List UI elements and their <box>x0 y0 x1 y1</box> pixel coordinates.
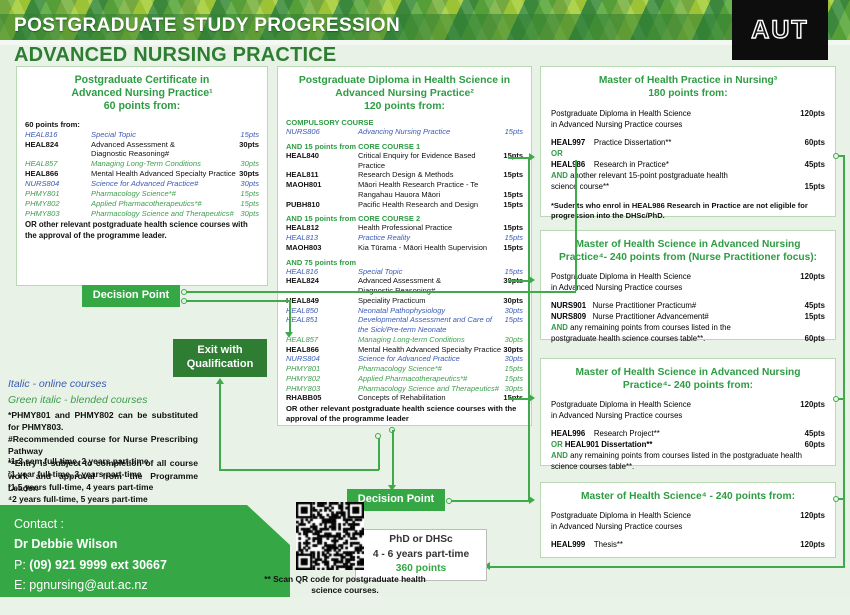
master-line: HEAL986 Research in Practice*45pts <box>551 159 825 170</box>
connector-dot-exit-route <box>375 433 381 439</box>
course-row: the Sick/Pre-term Neonate <box>286 325 523 335</box>
master-line-points: 15pts <box>805 311 825 322</box>
spacer <box>551 532 825 539</box>
course-row: HEAL866Mental Health Advanced Specialty … <box>286 345 523 355</box>
master-line-points: 45pts <box>805 159 825 170</box>
course-name: Diagnostic Reasoning# <box>91 149 259 159</box>
master-line-text: NURS901 Nurse Practitioner Practicum# <box>551 300 805 311</box>
course-points: 15pts <box>240 189 259 199</box>
course-name: Pharmacology Science and Therapeutics# <box>91 209 240 219</box>
course-code: NURS806 <box>286 127 358 137</box>
arrow-down-to-exit <box>285 332 293 338</box>
course-row: HEAL824Advanced Assessment &30pts <box>25 140 259 150</box>
master-line-text: HEAL996 Research Project** <box>551 428 805 439</box>
contact-enrol-url[interactable]: www.aut.ac.nz/apply <box>77 598 199 612</box>
exit-with-qualification[interactable]: Exit with Qualification <box>173 339 267 377</box>
connector-spine-v <box>528 157 530 501</box>
course-code: PHMY801 <box>25 189 91 199</box>
course-points: 30pts <box>505 354 523 364</box>
course-points: 30pts <box>240 209 259 219</box>
exit-label-1: Exit with <box>187 344 254 358</box>
connector-dp1-exit-v <box>289 300 291 334</box>
master-line-text: HEAL999 Thesis** <box>551 539 800 550</box>
master-line-text: postgraduate health science courses tabl… <box>551 333 805 344</box>
master-line: postgraduate health science courses tabl… <box>551 333 825 344</box>
master-line: in Advanced Nursing Practice courses <box>551 410 825 421</box>
connector-pgdip-to-dp2 <box>392 430 394 487</box>
course-row: MAOH801Māori Health Research Practice - … <box>286 180 523 190</box>
course-code: PHMY802 <box>25 199 91 209</box>
course-points: 15pts <box>503 151 523 161</box>
course-points: 15pts <box>503 170 523 180</box>
course-row: NURS804Science for Advanced Practice#30p… <box>25 179 259 189</box>
course-code: HEAL840 <box>286 151 358 161</box>
course-name: Rangahau Hauora Māori <box>358 190 503 200</box>
master-line: OR <box>551 148 825 159</box>
course-code: HEAL851 <box>286 315 358 325</box>
master-line-text: AND another relevant 15-point postgradua… <box>551 170 825 181</box>
connector-outer-spine <box>843 155 845 568</box>
course-row: PUBH810Pacific Health Research and Desig… <box>286 200 523 210</box>
master-line-text: in Advanced Nursing Practice courses <box>551 119 825 130</box>
course-row: NURS804Science for Advanced Practice30pt… <box>286 354 523 364</box>
arrow-right-master-0 <box>529 153 535 161</box>
course-points: 15pts <box>505 374 523 384</box>
course-row: PHMY801Pharmacology Science*#15pts <box>286 364 523 374</box>
master-line: NURS809 Nurse Practitioner Advancement#1… <box>551 311 825 322</box>
course-name: Māori Health Research Practice - Te <box>358 180 523 190</box>
contact-email[interactable]: pgnursing@aut.ac.nz <box>29 578 147 592</box>
pgdip-section-heading: AND 75 points from <box>286 258 523 267</box>
course-name: Practice Reality <box>358 233 505 243</box>
page-subtitle: ADVANCED NURSING PRACTICE <box>14 44 336 67</box>
course-code: HEAL816 <box>286 267 358 277</box>
course-name: Advanced Assessment & <box>91 140 239 150</box>
master-line: Postgraduate Diploma in Health Science12… <box>551 108 825 119</box>
course-code: NURS804 <box>286 354 358 364</box>
course-name: Applied Pharmacotherapeutics*# <box>358 374 505 384</box>
course-name: Science for Advanced Practice# <box>91 179 240 189</box>
master-0-title: Master of Health Practice in Nursing³ 18… <box>551 75 825 101</box>
master-line: NURS901 Nurse Practitioner Practicum#45p… <box>551 300 825 311</box>
master-line-points: 60pts <box>805 137 825 148</box>
course-row: HEAL857Managing Long-term Conditions30pt… <box>286 335 523 345</box>
course-row: HEAL857Managing Long-Term Conditions30pt… <box>25 159 259 169</box>
master-line: Postgraduate Diploma in Health Science12… <box>551 271 825 282</box>
spacer <box>551 293 825 300</box>
course-code: HEAL816 <box>25 130 91 140</box>
master-line: science course**15pts <box>551 181 825 192</box>
course-code: HEAL866 <box>286 345 358 355</box>
phd-line-2: 4 - 6 years part-time <box>356 548 486 563</box>
course-row: HEAL866Mental Health Advanced Specialty … <box>25 169 259 179</box>
connector-spine-m3 <box>508 500 530 502</box>
course-code: PUBH810 <box>286 200 358 210</box>
course-name: Kia Tūrama - Māori Health Supervision <box>358 243 503 253</box>
course-name: Research Design & Methods <box>358 170 503 180</box>
course-row: HEAL849Speciality Practicum30pts <box>286 296 523 306</box>
contact-phone[interactable]: (09) 921 9999 ext 30667 <box>29 558 167 572</box>
duration-3: ³1.5 years full-time, 4 years part-time <box>8 481 198 494</box>
contact-email-prefix: E: <box>14 578 29 592</box>
connector-spine-m1 <box>508 280 530 282</box>
course-row: PHMY803Pharmacology Science and Therapeu… <box>25 209 259 219</box>
course-code: HEAL824 <box>25 140 91 150</box>
arrow-right-master-3 <box>529 496 535 504</box>
master-line-text: in Advanced Nursing Practice courses <box>551 282 825 293</box>
connector-spine-m2 <box>508 398 530 400</box>
course-code: NURS804 <box>25 179 91 189</box>
qr-code[interactable] <box>296 502 364 575</box>
course-row: MAOH803Kia Tūrama - Māori Health Supervi… <box>286 243 523 253</box>
pgdip-section-heading: AND 15 points from CORE COURSE 1 <box>286 142 523 151</box>
course-name: Health Professional Practice <box>358 223 503 233</box>
card-master-health-science: Master of Health Science⁴ - 240 points f… <box>540 482 836 558</box>
qr-caption-line-2: science courses. <box>255 585 435 596</box>
master-line: AND any remaining points from courses li… <box>551 450 825 461</box>
course-points: 15pts <box>505 267 523 277</box>
pgdip-section-heading: COMPULSORY COURSE <box>286 118 523 127</box>
master-line: HEAL999 Thesis**120pts <box>551 539 825 550</box>
course-row: HEAL812Health Professional Practice15pts <box>286 223 523 233</box>
card-master-hs-anp: Master of Health Science in Advanced Nur… <box>540 358 836 466</box>
pgcert-course-list: HEAL816Special Topic15ptsHEAL824Advanced… <box>25 130 259 219</box>
card-master-hs-np-focus: Master of Health Science in Advanced Nur… <box>540 230 836 340</box>
master-line-points: 60pts <box>805 333 825 344</box>
master-line-text: Postgraduate Diploma in Health Science <box>551 271 800 282</box>
course-points: 30pts <box>239 140 259 150</box>
course-code: HEAL866 <box>25 169 91 179</box>
course-code: HEAL811 <box>286 170 358 180</box>
master-3-lines: Postgraduate Diploma in Health Science12… <box>551 510 825 550</box>
master-line-text: Postgraduate Diploma in Health Science <box>551 510 800 521</box>
course-row: PHMY802Applied Pharmacotherapeutics*#15p… <box>286 374 523 384</box>
course-name: the Sick/Pre-term Neonate <box>358 325 523 335</box>
duration-2: ²1 year full-time, 3 years part-time <box>8 468 198 481</box>
course-name: Developmental Assessment and Care of <box>358 315 505 325</box>
course-name: Managing Long-Term Conditions <box>91 159 240 169</box>
course-points: 15pts <box>503 190 523 200</box>
course-name: Speciality Practicum <box>358 296 503 306</box>
master-line-points: 45pts <box>805 428 825 439</box>
course-points: 30pts <box>505 335 523 345</box>
pgdip-section-heading: AND 15 points from CORE COURSE 2 <box>286 214 523 223</box>
course-code: HEAL857 <box>286 335 358 345</box>
course-name: Concepts of Rehabilitation <box>358 393 503 403</box>
master-line-points: 120pts <box>800 108 825 119</box>
course-points: 30pts <box>503 345 523 355</box>
master-line-text: OR <box>551 148 825 159</box>
aut-logo-text: AUT <box>751 16 808 45</box>
course-name: Special Topic <box>91 130 240 140</box>
connector-exit-up-v <box>219 384 221 470</box>
course-points: 30pts <box>505 306 523 316</box>
course-name: Science for Advanced Practice <box>358 354 505 364</box>
master-1-lines: Postgraduate Diploma in Health Science12… <box>551 271 825 344</box>
course-points: 30pts <box>240 179 259 189</box>
course-points: 30pts <box>503 296 523 306</box>
connector-dp1-to-pgdip-h <box>186 291 576 293</box>
connector-dp1-exit-h <box>186 300 290 302</box>
master-line: in Advanced Nursing Practice courses <box>551 119 825 130</box>
course-row: PHMY802Applied Pharmacotherapeutics*#15p… <box>25 199 259 209</box>
legend-italic-online: Italic - online courses <box>8 377 198 393</box>
course-name: Neonatal Pathophysiology <box>358 306 505 316</box>
master-line-points: 45pts <box>805 300 825 311</box>
course-points: 30pts <box>240 159 259 169</box>
course-code: HEAL857 <box>25 159 91 169</box>
durations-block: ¹1-2 sem full-time, 2 years part-time. ²… <box>8 455 198 506</box>
poster-root: POSTGRADUATE STUDY PROGRESSION AUT ADVAN… <box>0 0 850 597</box>
pgdip-sections: COMPULSORY COURSENURS806Advancing Nursin… <box>286 118 523 403</box>
master-line-text: NURS809 Nurse Practitioner Advancement# <box>551 311 805 322</box>
pgcert-footer: OR other relevant postgraduate health sc… <box>25 220 259 240</box>
course-points: 30pts <box>505 384 523 394</box>
master-line: AND another relevant 15-point postgradua… <box>551 170 825 181</box>
master-line: Postgraduate Diploma in Health Science12… <box>551 399 825 410</box>
master-line-points: 60pts <box>805 439 825 450</box>
duration-1: ¹1-2 sem full-time, 2 years part-time. <box>8 455 198 468</box>
master-line-text: HEAL986 Research in Practice* <box>551 159 805 170</box>
course-row: NURS806Advancing Nursing Practice15pts <box>286 127 523 137</box>
connector-exit-up-v2 <box>378 437 380 470</box>
master-line: HEAL997 Practice Dissertation**60pts <box>551 137 825 148</box>
course-row: Rangahau Hauora Māori15pts <box>286 190 523 200</box>
course-name: Mental Health Advanced Specialty Practic… <box>358 345 503 355</box>
course-code: HEAL824 <box>286 276 358 286</box>
course-name: Advancing Nursing Practice <box>358 127 505 137</box>
master-line-text: HEAL997 Practice Dissertation** <box>551 137 805 148</box>
master-line-text: AND any remaining points from courses li… <box>551 450 825 461</box>
master-line-points: 15pts <box>805 181 825 192</box>
course-row: HEAL840Critical Enquiry for Evidence Bas… <box>286 151 523 171</box>
phd-line-1: PhD or DHSc <box>356 533 486 548</box>
course-name: Pharmacology Science*# <box>358 364 505 374</box>
legend-note-2: #Recommended course for Nurse Prescribin… <box>8 433 198 457</box>
connector-spine-m0 <box>508 157 530 159</box>
legend-note-1: *PHMY801 and PHMY802 can be substituted … <box>8 409 198 433</box>
course-row: HEAL851Developmental Assessment and Care… <box>286 315 523 325</box>
course-row: RHABB05Concepts of Rehabilitation15pts <box>286 393 523 403</box>
master-line-points: 120pts <box>800 399 825 410</box>
connector-m2-out <box>838 398 844 400</box>
course-name: Applied Pharmacotherapeutics*# <box>91 199 240 209</box>
course-code: RHABB05 <box>286 393 358 403</box>
master-line-points: 120pts <box>800 510 825 521</box>
master-line-text: science course** <box>551 181 805 192</box>
pgdip-title: Postgraduate Diploma in Health Science i… <box>286 74 523 113</box>
course-points: 15pts <box>505 315 523 325</box>
course-name: Special Topic <box>358 267 505 277</box>
connector-m3-out <box>838 498 844 500</box>
arrow-right-master-1 <box>529 276 535 284</box>
connector-dp1-to-pgdip-v <box>575 160 577 291</box>
arrow-right-master-2 <box>529 394 535 402</box>
master-line: HEAL996 Research Project**45pts <box>551 428 825 439</box>
course-row: PHMY801Pharmacology Science*#15pts <box>25 189 259 199</box>
card-pgcert: Postgraduate Certificate in Advanced Nur… <box>16 66 268 286</box>
master-line-text: in Advanced Nursing Practice courses <box>551 521 825 532</box>
card-pgdip: Postgraduate Diploma in Health Science i… <box>277 66 532 426</box>
master-line: AND any remaining points from courses li… <box>551 322 825 333</box>
exit-label-2: Qualification <box>187 358 254 372</box>
master-line-text: AND any remaining points from courses li… <box>551 322 825 333</box>
course-name: Mental Health Advanced Specialty Practic… <box>91 169 239 179</box>
course-name: Critical Enquiry for Evidence Based Prac… <box>358 151 503 171</box>
course-code: PHMY801 <box>286 364 358 374</box>
connector-outer-to-phd <box>490 566 844 568</box>
master-3-title: Master of Health Science⁴ - 240 points f… <box>551 491 825 504</box>
course-points: 15pts <box>240 199 259 209</box>
contact-enrol-prefix: Enrol now: <box>14 598 77 612</box>
contact-label: Contact : <box>14 514 290 534</box>
course-code: PHMY803 <box>286 384 358 394</box>
master-line: science courses table**. <box>551 461 825 472</box>
contact-phone-prefix: P: <box>14 558 29 572</box>
course-row: HEAL816Special Topic15pts <box>286 267 523 277</box>
qr-caption: ** Scan QR code for postgraduate health … <box>255 574 435 597</box>
course-name: Advanced Assessment & <box>358 276 503 286</box>
course-name: Pacific Health Research and Design <box>358 200 503 210</box>
course-name: Managing Long-term Conditions <box>358 335 505 345</box>
course-row: Diagnostic Reasoning# <box>25 149 259 159</box>
contact-name: Dr Debbie Wilson <box>14 534 290 554</box>
course-points: 15pts <box>503 243 523 253</box>
master-line: Postgraduate Diploma in Health Science12… <box>551 510 825 521</box>
decision-point-1[interactable]: Decision Point <box>82 285 180 307</box>
master-line: in Advanced Nursing Practice courses <box>551 282 825 293</box>
spacer <box>551 421 825 428</box>
legend-green-blended: Green italic - blended courses <box>8 393 198 409</box>
course-name: Pharmacology Science and Therapeutics# <box>358 384 505 394</box>
duration-4: ⁴2 years full-time, 5 years part-time <box>8 493 198 506</box>
course-points: 15pts <box>505 233 523 243</box>
course-code: MAOH801 <box>286 180 358 190</box>
course-row: HEAL850Neonatal Pathophysiology30pts <box>286 306 523 316</box>
course-points: 30pts <box>239 169 259 179</box>
course-code: PHMY803 <box>25 209 91 219</box>
card-master-health-practice-nursing: Master of Health Practice in Nursing³ 18… <box>540 66 836 217</box>
course-row: HEAL813Practice Reality15pts <box>286 233 523 243</box>
course-row: HEAL811Research Design & Methods15pts <box>286 170 523 180</box>
course-code: MAOH803 <box>286 243 358 253</box>
course-code: PHMY802 <box>286 374 358 384</box>
qr-caption-line-1: ** Scan QR code for postgraduate health <box>255 574 435 585</box>
master-line-text: Postgraduate Diploma in Health Science <box>551 108 800 119</box>
course-code: HEAL812 <box>286 223 358 233</box>
master-0-lines: Postgraduate Diploma in Health Science12… <box>551 108 825 192</box>
course-points: 15pts <box>240 130 259 140</box>
course-code: HEAL849 <box>286 296 358 306</box>
pgdip-footer: OR other relevant postgraduate health sc… <box>286 404 523 424</box>
page-title: POSTGRADUATE STUDY PROGRESSION <box>14 15 400 37</box>
course-row: HEAL816Special Topic15pts <box>25 130 259 140</box>
course-points: 15pts <box>503 223 523 233</box>
course-points: 15pts <box>503 200 523 210</box>
master-line: OR HEAL901 Dissertation**60pts <box>551 439 825 450</box>
connector-exit-up-h <box>219 469 379 471</box>
course-row: HEAL824Advanced Assessment &30pts <box>286 276 523 286</box>
course-points: 15pts <box>505 127 523 137</box>
spacer <box>551 130 825 137</box>
master-line-points: 120pts <box>800 271 825 282</box>
course-code: HEAL850 <box>286 306 358 316</box>
master-line-text: OR HEAL901 Dissertation** <box>551 439 805 450</box>
course-name: Pharmacology Science*# <box>91 189 240 199</box>
course-row: PHMY803Pharmacology Science and Therapeu… <box>286 384 523 394</box>
master-line-text: in Advanced Nursing Practice courses <box>551 410 825 421</box>
pgcert-title: Postgraduate Certificate in Advanced Nur… <box>25 74 259 114</box>
course-code: HEAL813 <box>286 233 358 243</box>
contact-block: Contact : Dr Debbie Wilson P: (09) 921 9… <box>0 505 290 597</box>
master-1-title: Master of Health Science in Advanced Nur… <box>551 239 825 265</box>
master-2-lines: Postgraduate Diploma in Health Science12… <box>551 399 825 472</box>
course-points: 15pts <box>505 364 523 374</box>
master-line-points: 120pts <box>800 539 825 550</box>
master-2-title: Master of Health Science in Advanced Nur… <box>551 367 825 393</box>
pgcert-intro: 60 points from: <box>25 120 259 129</box>
master-line-text: Postgraduate Diploma in Health Science <box>551 399 800 410</box>
aut-logo: AUT <box>732 0 828 60</box>
master-line-text: science courses table**. <box>551 461 825 472</box>
master-0-note: *Sudents who enrol in HEAL986 Research i… <box>551 201 825 221</box>
master-line: in Advanced Nursing Practice courses <box>551 521 825 532</box>
